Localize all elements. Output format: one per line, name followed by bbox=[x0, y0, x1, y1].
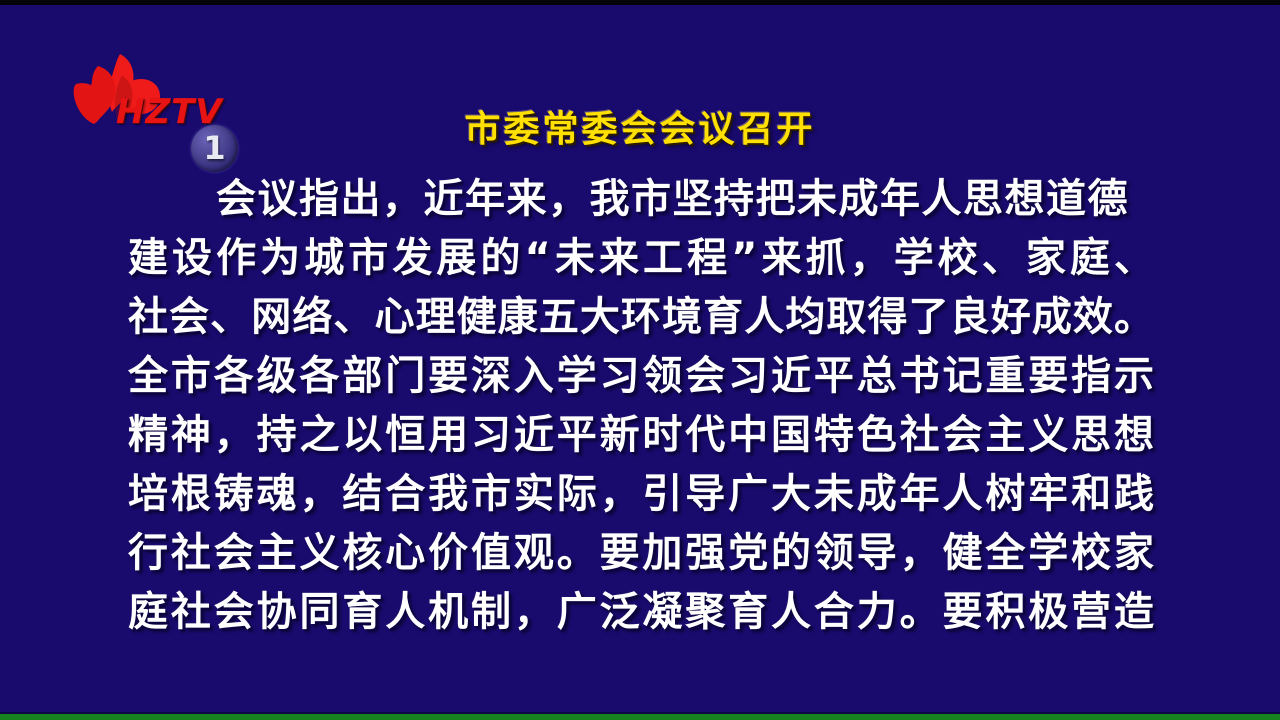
body-line: 精神，持之以恒用习近平新时代中国特色社会主义思想 bbox=[128, 406, 1154, 465]
body-line: 行社会主义核心价值观。要加强党的领导，健全学校家 bbox=[128, 524, 1154, 583]
body-line: 庭社会协同育人机制，广泛凝聚育人合力。要积极营造 bbox=[128, 583, 1154, 642]
broadcast-screen: HZTV 1 市委常委会会议召开 会议指出，近年来，我市坚持把未成年人思想道德 … bbox=[0, 0, 1280, 720]
news-body: 会议指出，近年来，我市坚持把未成年人思想道德 建设作为城市发展的“未来工程”来抓… bbox=[128, 170, 1154, 642]
body-line: 建设作为城市发展的“未来工程”来抓，学校、家庭、 bbox=[128, 229, 1154, 288]
bottom-accent-bar bbox=[0, 714, 1280, 720]
body-line: 会议指出，近年来，我市坚持把未成年人思想道德 bbox=[128, 170, 1154, 229]
top-letterbox-bar bbox=[0, 0, 1280, 5]
body-line: 全市各级各部门要深入学习领会习近平总书记重要指示 bbox=[128, 347, 1154, 406]
body-line: 社会、网络、心理健康五大环境育人均取得了良好成效。 bbox=[128, 288, 1154, 347]
body-line: 培根铸魂，结合我市实际，引导广大未成年人树牢和践 bbox=[128, 465, 1154, 524]
news-headline: 市委常委会会议召开 bbox=[0, 100, 1280, 152]
